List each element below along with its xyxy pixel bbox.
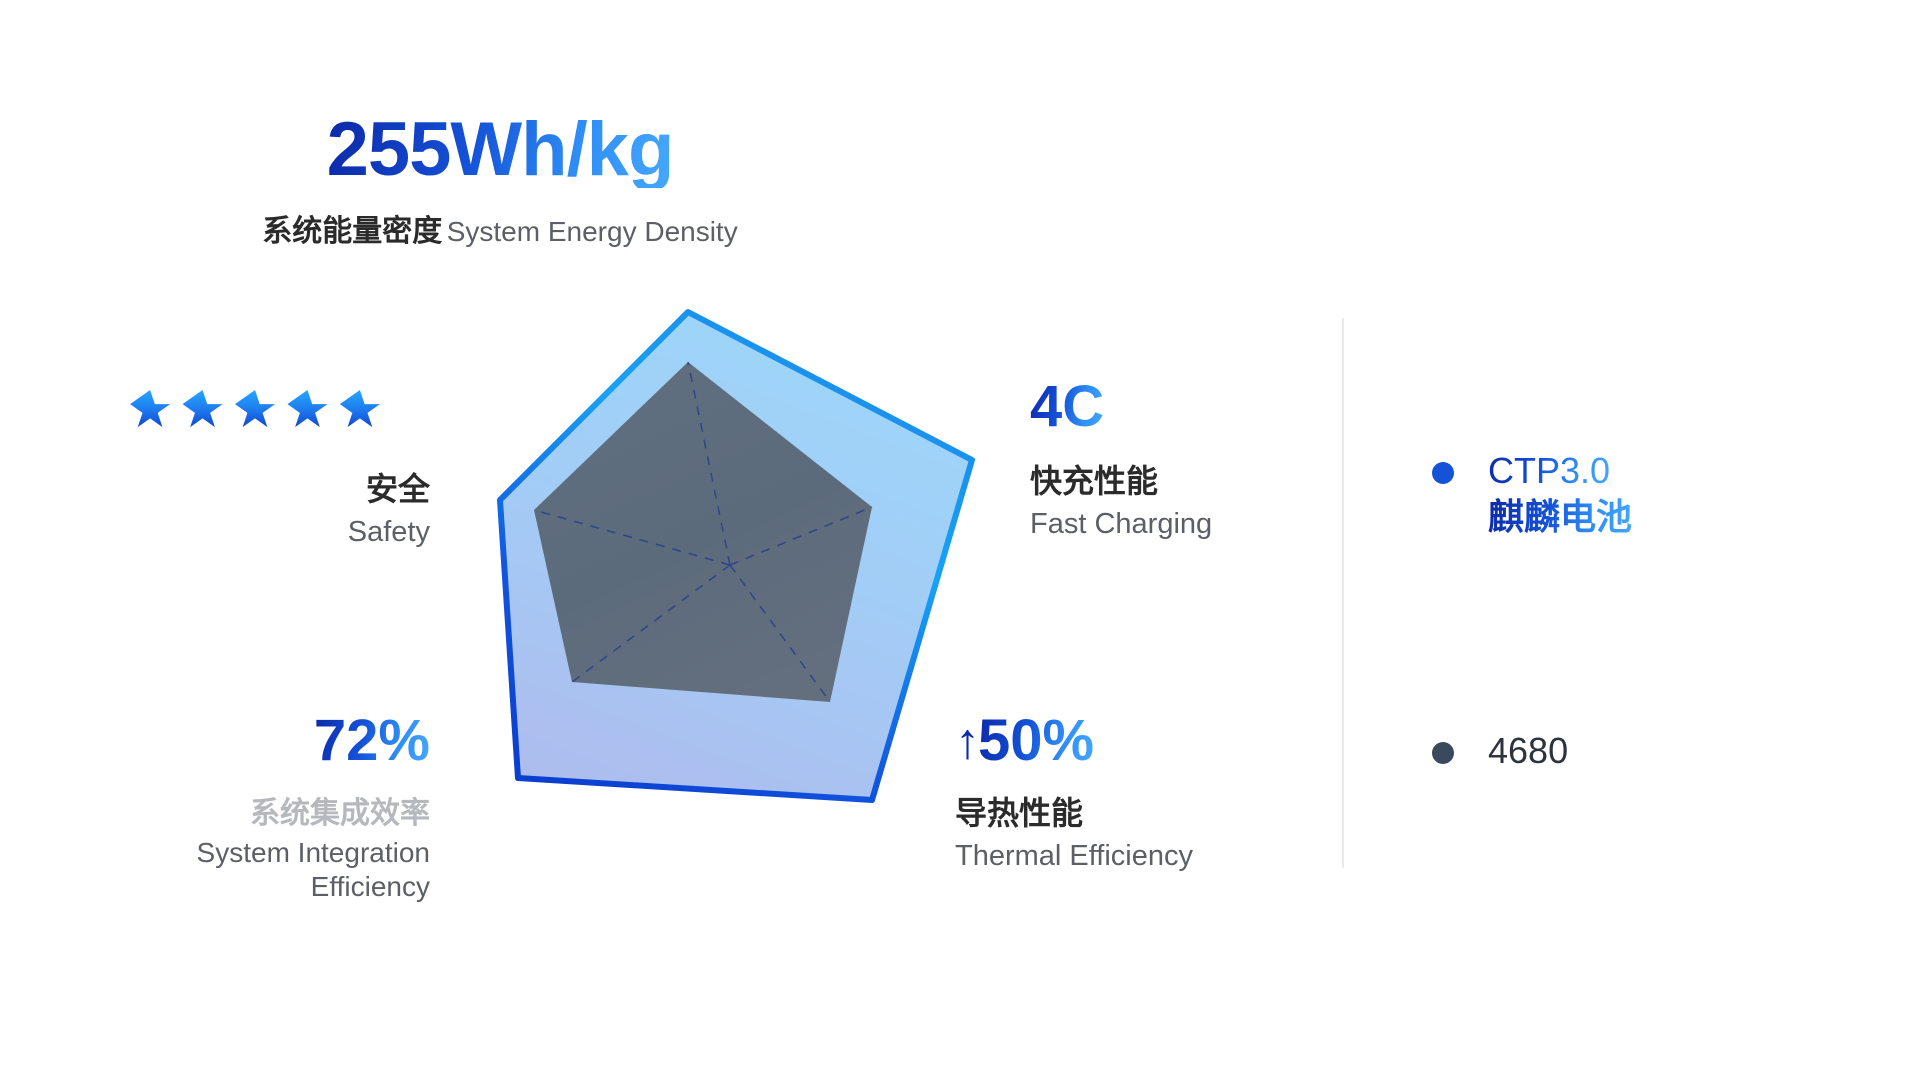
star-rating [80,390,430,434]
safety-label-cn: 安全 [80,464,430,510]
energy-density-label-cn: 系统能量密度 [262,215,442,248]
thermal-efficiency-metric: ↑50% 导热性能 Thermal Efficiency [955,712,1355,873]
star-icon [287,390,327,430]
energy-density-label-en: System Energy Density [447,216,738,247]
vertical-divider [1342,318,1344,868]
legend-dot-icon [1432,462,1454,484]
legend-item-4680[interactable]: 4680 [1432,728,1852,774]
star-icon [340,390,380,430]
legend-label-ctp3-line1: CTP3.0 [1488,448,1610,494]
safety-metric: 安全 Safety [80,390,430,549]
legend-label-4680: 4680 [1488,728,1568,774]
thermal-efficiency-label-en: Thermal Efficiency [955,840,1355,873]
star-icon [183,390,223,430]
arrow-up-icon: ↑ [955,716,980,766]
integration-efficiency-label-en-line2: Efficiency [80,870,430,904]
safety-label-en: Safety [80,516,430,549]
integration-efficiency-metric: 72% 系统集成效率 System Integration Efficiency [80,712,430,904]
integration-efficiency-value: 72% [314,712,430,770]
integration-efficiency-label-cn: 系统集成效率 [80,788,430,832]
fast-charging-label-cn: 快充性能 [1030,456,1390,502]
legend-item-ctp3[interactable]: CTP3.0 麒麟电池 [1432,448,1852,540]
star-icon [130,390,170,430]
fast-charging-value: 4C [1030,378,1104,436]
fast-charging-metric: 4C 快充性能 Fast Charging [1030,378,1390,541]
star-icon [235,390,275,430]
legend-label-4680-line1: 4680 [1488,730,1568,771]
legend-dot-icon [1432,742,1454,764]
energy-density-metric: 255Wh/kg 系统能量密度 System Energy Density [0,112,1000,250]
legend-label-ctp3-line2: 麒麟电池 [1488,494,1632,540]
legend-label-ctp3: CTP3.0 麒麟电池 [1488,448,1632,540]
integration-efficiency-label-en-line1: System Integration [80,836,430,870]
energy-density-labels: 系统能量密度 System Energy Density [0,206,1000,250]
thermal-efficiency-value: 50% [978,712,1094,770]
infographic-stage: 255Wh/kg 系统能量密度 System Energy Density [0,0,1920,1080]
thermal-efficiency-value-row: ↑50% [955,712,1355,770]
chart-legend: CTP3.0 麒麟电池 4680 [1432,448,1852,774]
thermal-efficiency-label-cn: 导热性能 [955,788,1355,834]
fast-charging-label-en: Fast Charging [1030,508,1390,541]
energy-density-value: 255Wh/kg [327,112,674,188]
